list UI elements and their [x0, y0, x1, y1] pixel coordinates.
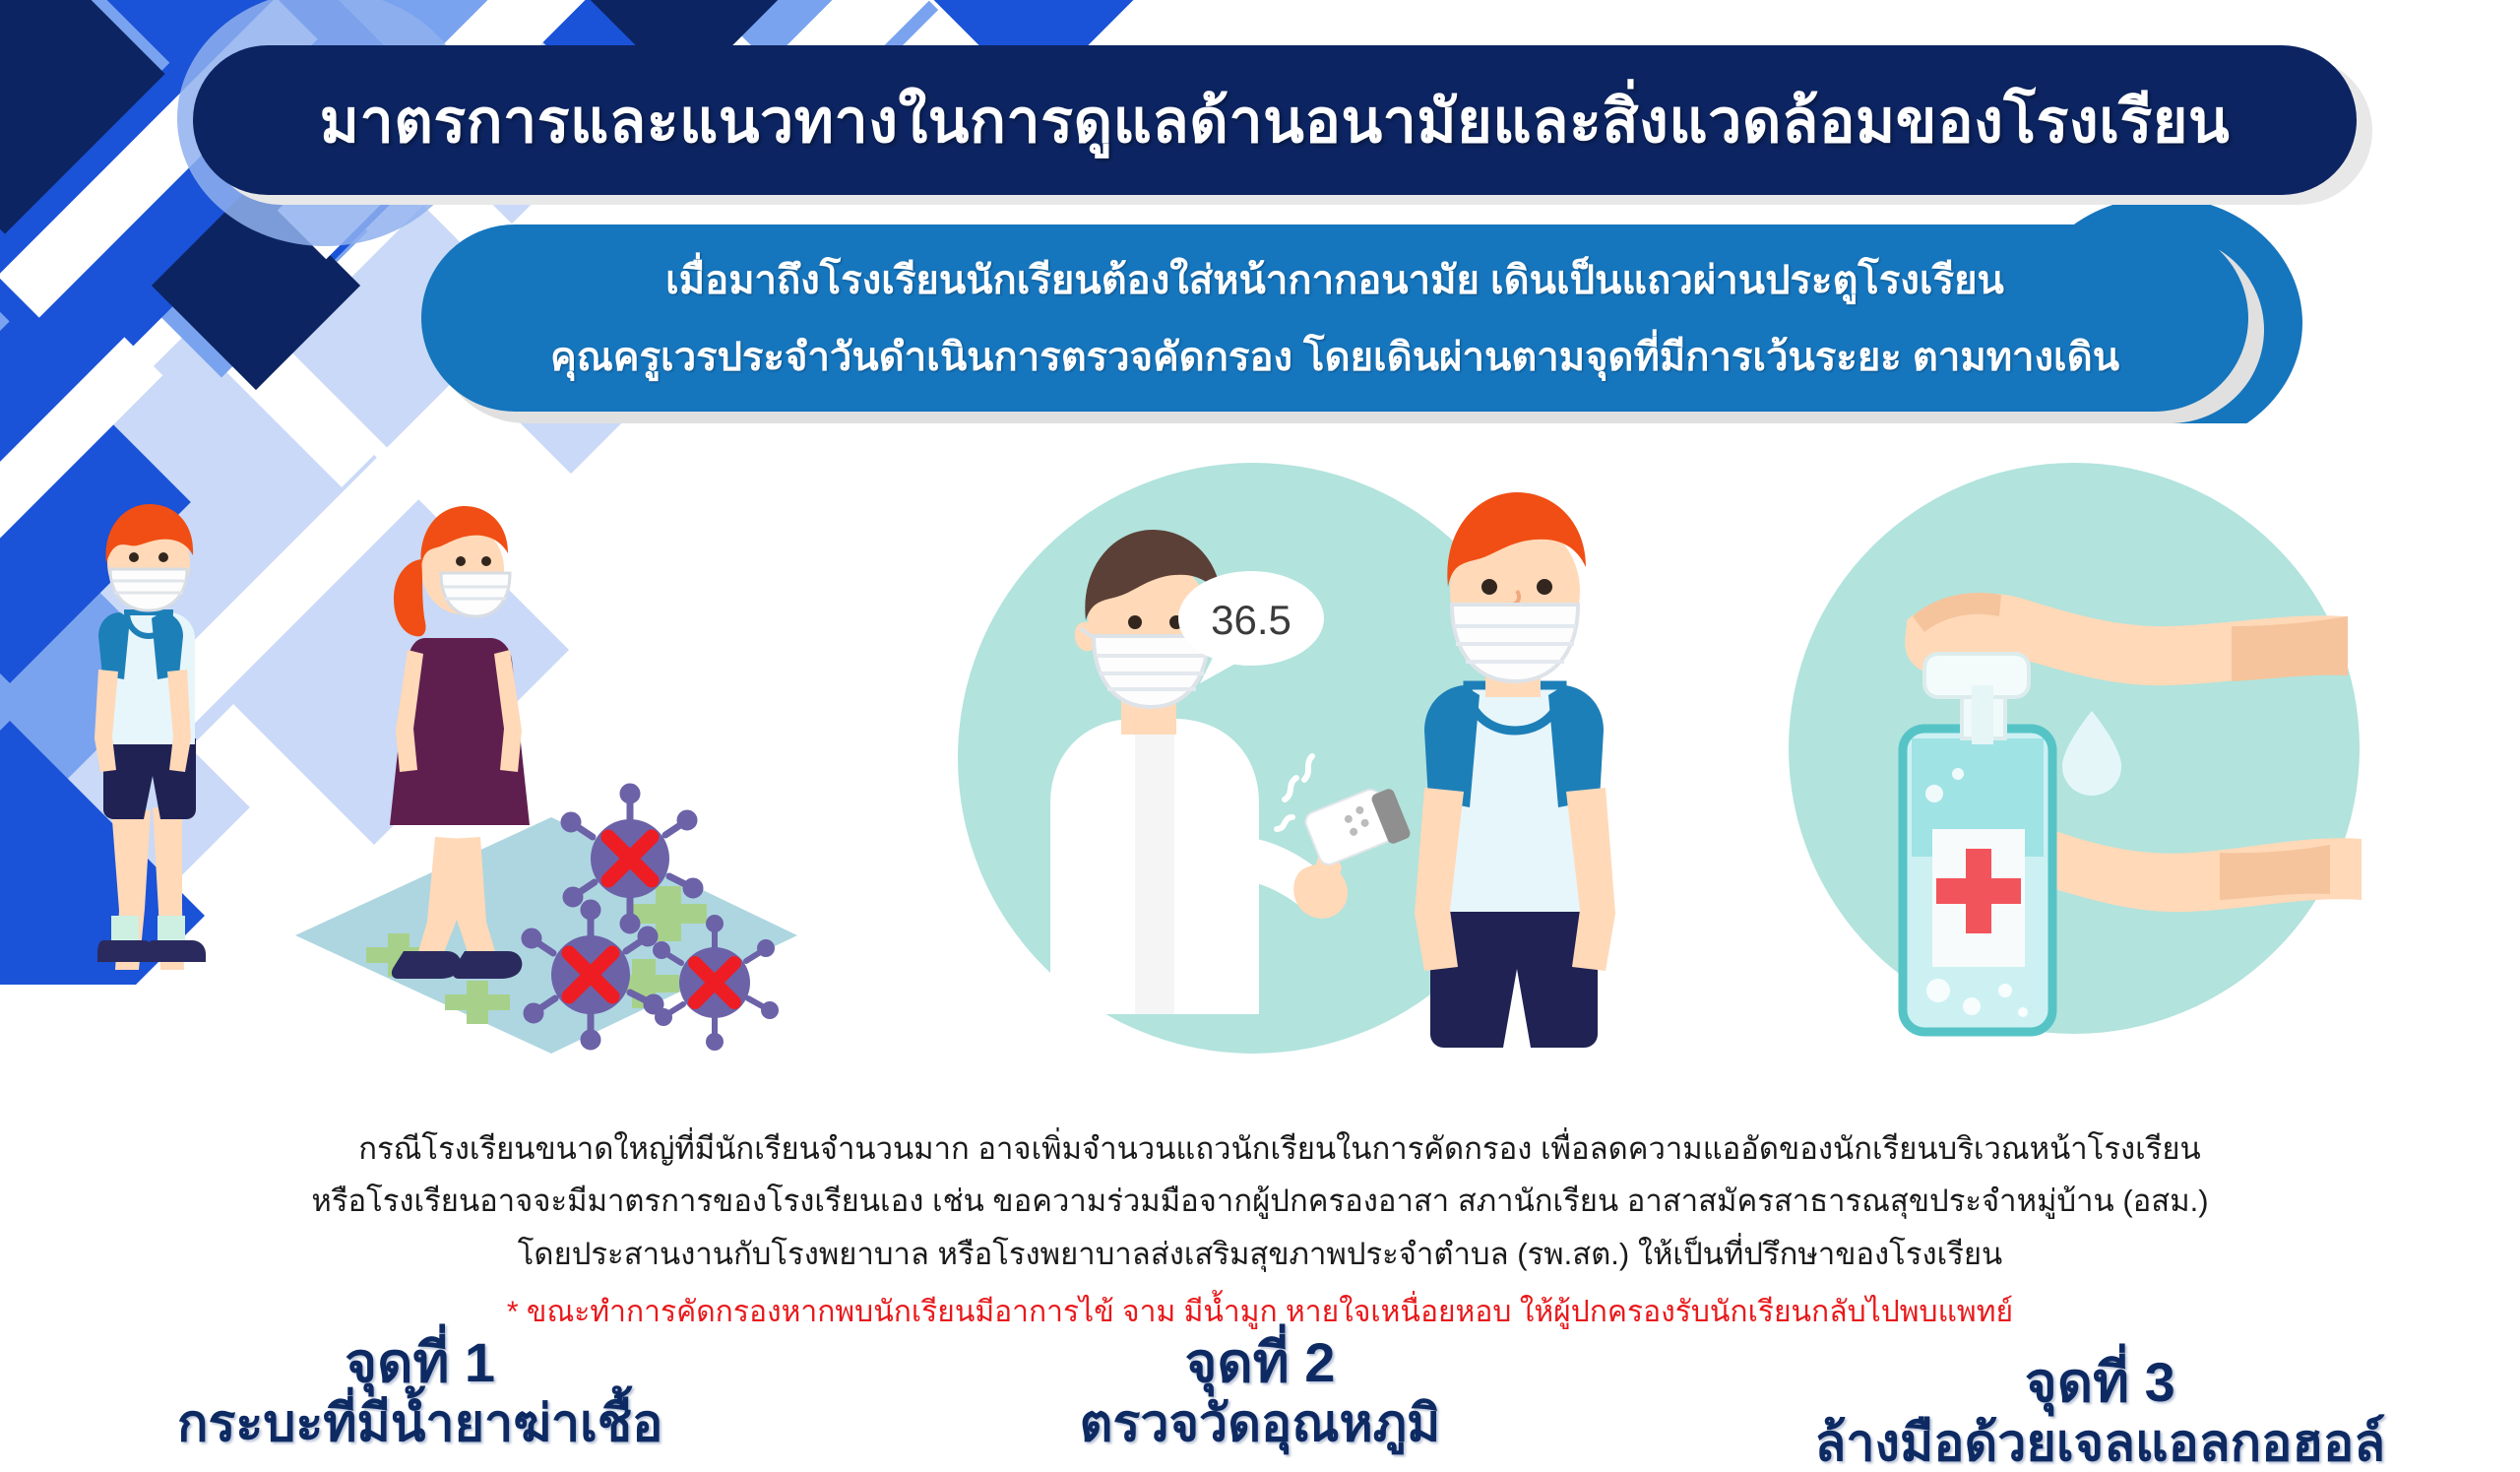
subtitle-line-1: เมื่อมาถึงโรงเรียนนักเรียนต้องใส่หน้ากาก… [665, 248, 2004, 311]
temperature-value: 36.5 [1211, 597, 1291, 643]
footer-line-2: หรือโรงเรียนอาจจะมีมาตรการของโรงเรียนเอง… [0, 1175, 2520, 1227]
caption-point-1: จุดที่ 1 กระบะที่มีน้ำยาฆ่าเชื้อ [0, 1334, 840, 1452]
footer-notes: กรณีโรงเรียนขนาดใหญ่ที่มีนักเรียนจำนวนมา… [0, 1122, 2520, 1339]
panel-point-1: จุดที่ 1 กระบะที่มีน้ำยาฆ่าเชื้อ [0, 443, 840, 1083]
footer-line-3: โดยประสานงานกับโรงพยาบาล หรือโรงพยาบาลส่… [0, 1228, 2520, 1280]
illustration-panels: จุดที่ 1 กระบะที่มีน้ำยาฆ่าเชื้อ [0, 443, 2520, 1083]
subtitle-line-2: คุณครูเวรประจำวันดำเนินการตรวจคัดกรอง โด… [550, 325, 2119, 388]
hand-sanitizer-icon [1680, 443, 2520, 1083]
boy-figure [94, 504, 206, 970]
thermometer-screening-icon: 36.5 [840, 443, 1679, 1083]
point-3-number: จุดที่ 3 [1680, 1354, 2520, 1412]
disinfectant-mat-icon [0, 443, 840, 1083]
caption-point-3: จุดที่ 3 ล้างมือด้วยเจลแอลกอฮอล์ [1680, 1354, 2520, 1472]
footer-line-1: กรณีโรงเรียนขนาดใหญ่ที่มีนักเรียนจำนวนมา… [0, 1122, 2520, 1175]
caption-point-2: จุดที่ 2 ตรวจวัดอุณหภูมิ [840, 1334, 1679, 1452]
point-1-label: กระบะที่มีน้ำยาฆ่าเชื้อ [0, 1396, 840, 1452]
point-2-label: ตรวจวัดอุณหภูมิ [840, 1396, 1679, 1452]
panel-point-3: จุดที่ 3 ล้างมือด้วยเจลแอลกอฮอล์ [1680, 443, 2520, 1083]
panel-point-2: 36.5 [840, 443, 1679, 1083]
subtitle-banner: เมื่อมาถึงโรงเรียนนักเรียนต้องใส่หน้ากาก… [421, 224, 2248, 412]
page-title: มาตรการและแนวทางในการดูแลด้านอนามัยและสิ… [320, 73, 2231, 168]
footer-warning-note: * ขณะทำการคัดกรองหากพบนักเรียนมีอาการไข้… [0, 1286, 2520, 1339]
title-banner: มาตรการและแนวทางในการดูแลด้านอนามัยและสิ… [193, 45, 2357, 195]
point-1-number: จุดที่ 1 [0, 1334, 840, 1392]
point-2-number: จุดที่ 2 [840, 1334, 1679, 1392]
point-3-label: ล้างมือด้วยเจลแอลกอฮอล์ [1680, 1416, 2520, 1472]
